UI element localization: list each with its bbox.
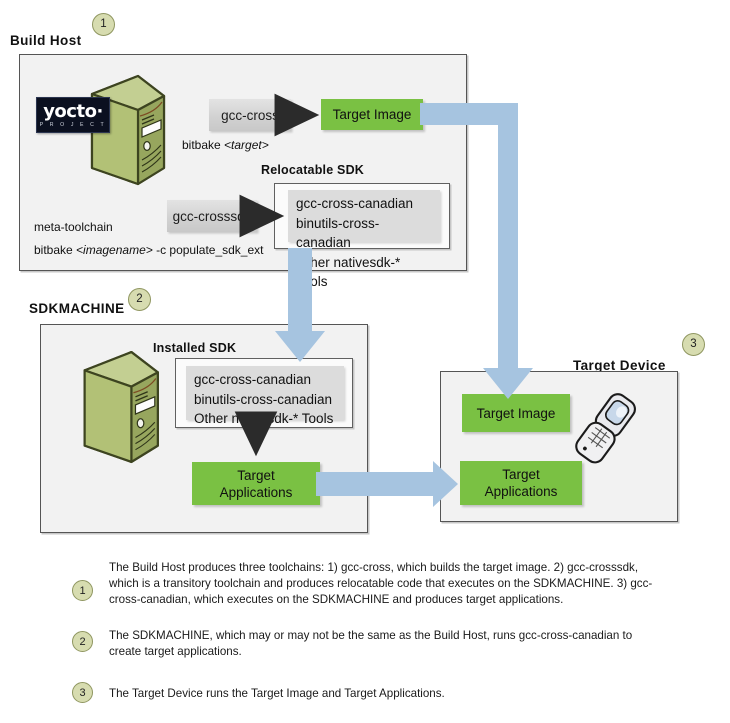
legend: 1 The Build Host produces three toolchai… xyxy=(72,560,712,703)
legend-text-3: The Target Device runs the Target Image … xyxy=(109,686,445,702)
chip-gcc-cross[interactable]: gcc-cross xyxy=(209,99,291,131)
yocto-project-logo: yocto· P R O J E C T xyxy=(36,97,110,133)
legend-item: 3 The Target Device runs the Target Imag… xyxy=(72,684,712,703)
target-device-target-applications-line1: Target xyxy=(502,466,540,483)
installed-sdk-tool: gcc-cross-canadian xyxy=(194,370,337,390)
relocatable-sdk-tool: gcc-cross-canadian xyxy=(296,194,433,214)
bitbake-target-prefix: bitbake xyxy=(182,138,224,152)
target-device-target-applications[interactable]: Target Applications xyxy=(460,461,582,505)
legend-item: 1 The Build Host produces three toolchai… xyxy=(72,560,712,608)
relocatable-sdk-tool-list: gcc-cross-canadian binutils-cross-canadi… xyxy=(288,190,440,242)
yocto-logo-dot: · xyxy=(96,101,102,122)
sdkmachine-target-applications-line1: Target xyxy=(237,467,275,484)
build-host-badge: 1 xyxy=(92,13,115,36)
target-device-target-applications-line2: Applications xyxy=(485,483,558,500)
legend-text-1: The Build Host produces three toolchains… xyxy=(109,560,654,608)
bitbake-sdk-suffix: -c populate_sdk_ext xyxy=(153,243,264,257)
legend-badge-1: 1 xyxy=(72,580,93,601)
target-device-badge: 3 xyxy=(682,333,705,356)
bitbake-target-arg: <target> xyxy=(224,138,269,152)
bitbake-sdk-prefix: bitbake xyxy=(34,243,76,257)
yocto-logo-sub: P R O J E C T xyxy=(40,122,106,128)
legend-text-2: The SDKMACHINE, which may or may not be … xyxy=(109,628,654,660)
build-host-target-image[interactable]: Target Image xyxy=(321,99,423,130)
bitbake-target-caption: bitbake <target> xyxy=(182,138,269,152)
relocatable-sdk-tool: binutils-cross-canadian xyxy=(296,214,433,253)
relocatable-sdk-title: Relocatable SDK xyxy=(261,163,364,177)
installed-sdk-tool-list: gcc-cross-canadian binutils-cross-canadi… xyxy=(186,366,344,420)
relocatable-sdk-tool: Other nativesdk-* Tools xyxy=(296,253,433,292)
yocto-logo-word: yocto xyxy=(43,101,96,122)
installed-sdk-tool: binutils-cross-canadian xyxy=(194,390,337,410)
legend-item: 2 The SDKMACHINE, which may or may not b… xyxy=(72,628,712,660)
sdkmachine-target-applications-line2: Applications xyxy=(220,484,293,501)
bitbake-sdk-caption: bitbake <imagename> -c populate_sdk_ext xyxy=(34,243,264,257)
flip-phone-icon xyxy=(568,388,644,468)
bitbake-sdk-arg: <imagename> xyxy=(76,243,153,257)
sdkmachine-badge: 2 xyxy=(128,288,151,311)
target-device-target-image[interactable]: Target Image xyxy=(462,394,570,432)
build-host-title: Build Host xyxy=(10,33,82,48)
sdkmachine-title: SDKMACHINE xyxy=(29,301,125,316)
legend-badge-3: 3 xyxy=(72,682,93,703)
chip-gcc-crosssdk[interactable]: gcc-crosssdk xyxy=(167,200,257,232)
sdkmachine-server-icon xyxy=(52,348,162,468)
sdkmachine-target-applications[interactable]: Target Applications xyxy=(192,462,320,505)
legend-badge-2: 2 xyxy=(72,631,93,652)
installed-sdk-tool: Other nativesdk-* Tools xyxy=(194,409,337,429)
installed-sdk-title: Installed SDK xyxy=(153,341,236,355)
meta-toolchain-caption: meta-toolchain xyxy=(34,220,113,234)
